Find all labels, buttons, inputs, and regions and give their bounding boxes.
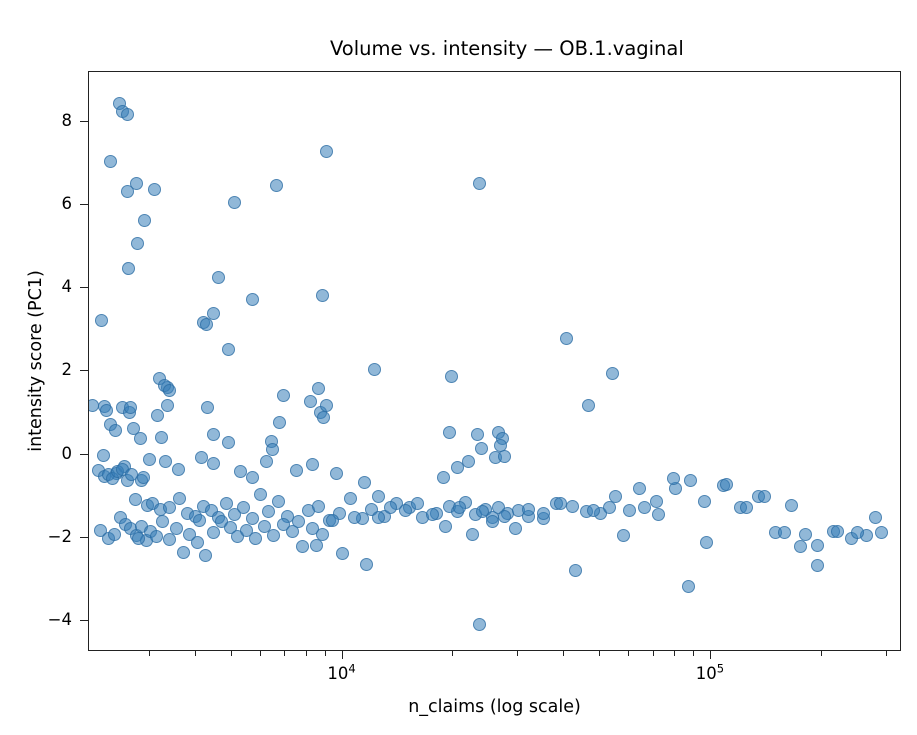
scatter-point — [445, 370, 458, 383]
scatter-point — [177, 546, 190, 559]
scatter-point — [272, 495, 285, 508]
scatter-point — [384, 501, 397, 514]
scatter-point — [124, 401, 137, 414]
scatter-point — [286, 525, 299, 538]
scatter-point — [270, 179, 283, 192]
scatter-point — [121, 108, 134, 121]
scatter-point — [811, 539, 824, 552]
scatter-point — [617, 529, 630, 542]
scatter-point — [582, 399, 595, 412]
scatter-point — [129, 493, 142, 506]
scatter-point — [312, 500, 325, 513]
scatter-plot-figure: Volume vs. intensity — OB.1.vaginal (Spe… — [0, 0, 917, 735]
y-axis-tick — [80, 204, 89, 205]
scatter-point — [151, 409, 164, 422]
y-axis-tick — [80, 454, 89, 455]
scatter-point — [509, 522, 522, 535]
scatter-point — [262, 505, 275, 518]
scatter-point — [222, 436, 235, 449]
scatter-point — [246, 293, 259, 306]
scatter-point — [667, 472, 680, 485]
scatter-point — [537, 507, 550, 520]
scatter-point — [498, 510, 511, 523]
scatter-point — [191, 536, 204, 549]
scatter-point — [134, 432, 147, 445]
scatter-point — [207, 526, 220, 539]
scatter-point — [201, 401, 214, 414]
scatter-point — [260, 455, 273, 468]
scatter-point — [453, 501, 466, 514]
scatter-point — [740, 501, 753, 514]
scatter-point — [372, 511, 385, 524]
scatter-point — [399, 504, 412, 517]
y-axis-tick — [80, 370, 89, 371]
x-axis-tick — [342, 651, 343, 659]
scatter-point — [246, 471, 259, 484]
scatter-point — [650, 495, 663, 508]
x-axis-minor-tick — [693, 651, 694, 656]
scatter-point — [372, 490, 385, 503]
x-axis-minor-tick — [231, 651, 232, 656]
scatter-point — [138, 214, 151, 227]
scatter-point — [320, 399, 333, 412]
x-axis-minor-tick — [653, 651, 654, 656]
scatter-points-layer — [89, 72, 900, 650]
scatter-point — [360, 558, 373, 571]
scatter-point — [95, 314, 108, 327]
scatter-point — [97, 449, 110, 462]
scatter-point — [330, 467, 343, 480]
scatter-point — [296, 540, 309, 553]
scatter-point — [344, 492, 357, 505]
y-axis-tick — [80, 620, 89, 621]
scatter-point — [623, 504, 636, 517]
x-axis-minor-tick — [821, 651, 822, 656]
scatter-point — [569, 564, 582, 577]
scatter-point — [108, 528, 121, 541]
scatter-point — [170, 522, 183, 535]
x-axis-tick-label: 105 — [665, 664, 755, 684]
chart-title-line1: Volume vs. intensity — OB.1.vaginal — [330, 37, 684, 60]
scatter-point — [163, 533, 176, 546]
scatter-point — [700, 536, 713, 549]
plot-area — [88, 71, 901, 651]
scatter-point — [266, 443, 279, 456]
scatter-point — [290, 464, 303, 477]
scatter-point — [100, 404, 113, 417]
scatter-point — [758, 490, 771, 503]
scatter-point — [249, 532, 262, 545]
scatter-point — [148, 183, 161, 196]
x-axis-minor-tick — [260, 651, 261, 656]
scatter-point — [554, 497, 567, 510]
scatter-point — [109, 424, 122, 437]
scatter-point — [173, 492, 186, 505]
scatter-point — [304, 395, 317, 408]
scatter-point — [317, 411, 330, 424]
scatter-point — [471, 428, 484, 441]
scatter-point — [831, 525, 844, 538]
scatter-point — [316, 289, 329, 302]
scatter-point — [778, 526, 791, 539]
scatter-point — [603, 501, 616, 514]
scatter-point — [411, 497, 424, 510]
scatter-point — [143, 453, 156, 466]
scatter-point — [682, 580, 695, 593]
scatter-point — [368, 363, 381, 376]
scatter-point — [310, 539, 323, 552]
scatter-point — [150, 530, 163, 543]
scatter-point — [633, 482, 646, 495]
x-axis-minor-tick — [284, 651, 285, 656]
scatter-point — [462, 455, 475, 468]
scatter-point — [212, 271, 225, 284]
scatter-point — [254, 488, 267, 501]
scatter-point — [799, 528, 812, 541]
x-axis-minor-tick — [599, 651, 600, 656]
x-axis-minor-tick — [325, 651, 326, 656]
x-axis-minor-tick — [674, 651, 675, 656]
scatter-point — [273, 416, 286, 429]
scatter-point — [566, 500, 579, 513]
scatter-point — [439, 520, 452, 533]
scatter-point — [320, 145, 333, 158]
scatter-point — [122, 262, 135, 275]
scatter-point — [159, 455, 172, 468]
x-axis-minor-tick — [306, 651, 307, 656]
y-axis-label: intensity score (PC1) — [26, 71, 50, 651]
scatter-point — [228, 196, 241, 209]
scatter-point — [426, 508, 439, 521]
scatter-point — [652, 508, 665, 521]
scatter-point — [437, 471, 450, 484]
scatter-point — [207, 457, 220, 470]
scatter-point — [137, 471, 150, 484]
scatter-point — [207, 307, 220, 320]
scatter-point — [207, 428, 220, 441]
x-axis-minor-tick — [452, 651, 453, 656]
scatter-point — [443, 426, 456, 439]
scatter-point — [466, 528, 479, 541]
scatter-point — [199, 549, 212, 562]
scatter-point — [720, 478, 733, 491]
scatter-point — [486, 515, 499, 528]
scatter-point — [163, 384, 176, 397]
scatter-point — [312, 382, 325, 395]
scatter-point — [200, 318, 213, 331]
y-axis-tick — [80, 121, 89, 122]
scatter-point — [155, 431, 168, 444]
x-axis-minor-tick — [628, 651, 629, 656]
x-axis-minor-tick — [195, 651, 196, 656]
scatter-point — [156, 515, 169, 528]
scatter-point — [606, 367, 619, 380]
scatter-point — [193, 514, 206, 527]
x-axis-minor-tick — [563, 651, 564, 656]
scatter-point — [522, 503, 535, 516]
scatter-point — [306, 458, 319, 471]
scatter-point — [131, 237, 144, 250]
scatter-point — [267, 529, 280, 542]
scatter-point — [698, 495, 711, 508]
scatter-point — [161, 399, 174, 412]
scatter-point — [475, 442, 488, 455]
x-axis-minor-tick — [886, 651, 887, 656]
x-axis-label: n_claims (log scale) — [88, 697, 901, 717]
scatter-point — [473, 177, 486, 190]
scatter-point — [104, 155, 117, 168]
scatter-point — [336, 547, 349, 560]
x-axis-tick-label: 104 — [297, 664, 387, 684]
scatter-point — [638, 501, 651, 514]
x-axis-tick — [710, 651, 711, 659]
scatter-point — [326, 514, 339, 527]
x-axis-minor-tick — [517, 651, 518, 656]
scatter-point — [811, 559, 824, 572]
scatter-point — [794, 540, 807, 553]
scatter-point — [869, 511, 882, 524]
scatter-point — [498, 450, 511, 463]
scatter-point — [684, 474, 697, 487]
scatter-point — [560, 332, 573, 345]
x-axis-minor-tick — [149, 651, 150, 656]
scatter-point — [785, 499, 798, 512]
y-axis-tick — [80, 537, 89, 538]
scatter-point — [222, 343, 235, 356]
scatter-point — [172, 463, 185, 476]
y-axis-tick — [80, 287, 89, 288]
scatter-point — [875, 526, 888, 539]
scatter-point — [358, 476, 371, 489]
scatter-point — [473, 618, 486, 631]
scatter-point — [130, 177, 143, 190]
scatter-point — [277, 389, 290, 402]
